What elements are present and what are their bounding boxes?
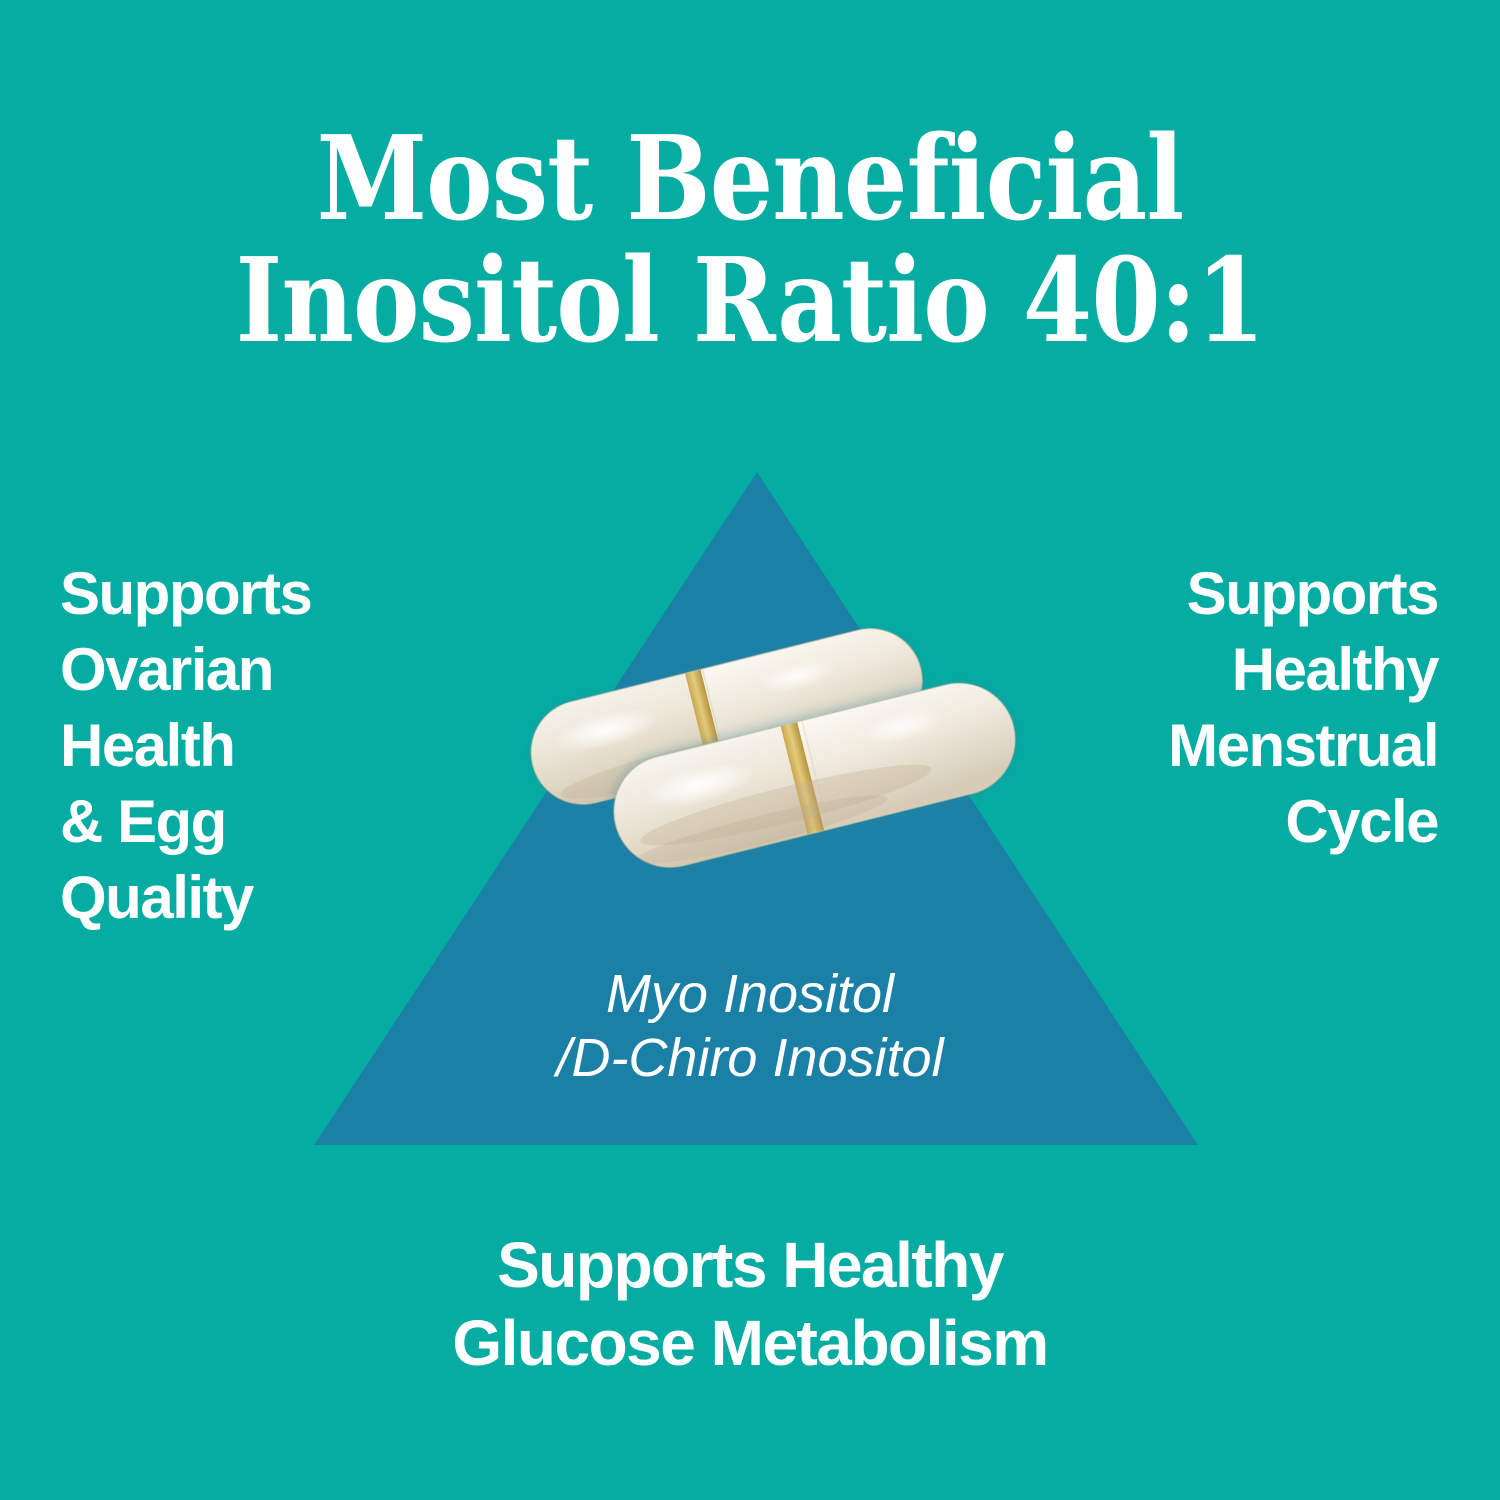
ingredient-caption: Myo Inositol /D-Chiro Inositol [0, 962, 1500, 1090]
headline-line-1: Most Beneficial [105, 118, 1395, 240]
benefit-right-line-3: Menstrual [1168, 708, 1438, 784]
benefit-bottom: Supports Healthy Glucose Metabolism [0, 1226, 1500, 1382]
benefit-left: Supports Ovarian Health & Egg Quality [60, 556, 311, 936]
benefit-right-line-2: Healthy [1168, 632, 1438, 708]
page-title: Most Beneficial Inositol Ratio 40:1 [105, 118, 1395, 362]
benefit-left-line-5: Quality [60, 860, 311, 936]
headline-line-2: Inositol Ratio 40:1 [105, 240, 1395, 362]
two-capsules [500, 610, 1070, 950]
infographic-canvas: Most Beneficial Inositol Ratio 40:1 [0, 0, 1500, 1500]
benefit-right-line-4: Cycle [1168, 784, 1438, 860]
benefit-left-line-4: & Egg [60, 784, 311, 860]
benefit-left-line-3: Health [60, 708, 311, 784]
ingredient-line-2: /D-Chiro Inositol [0, 1026, 1500, 1090]
benefit-left-line-2: Ovarian [60, 632, 311, 708]
benefit-right-line-1: Supports [1168, 556, 1438, 632]
benefit-right: Supports Healthy Menstrual Cycle [1168, 556, 1438, 860]
benefit-bottom-line-1: Supports Healthy [0, 1226, 1500, 1304]
benefit-bottom-line-2: Glucose Metabolism [0, 1304, 1500, 1382]
ingredient-line-1: Myo Inositol [0, 962, 1500, 1026]
benefit-left-line-1: Supports [60, 556, 311, 632]
